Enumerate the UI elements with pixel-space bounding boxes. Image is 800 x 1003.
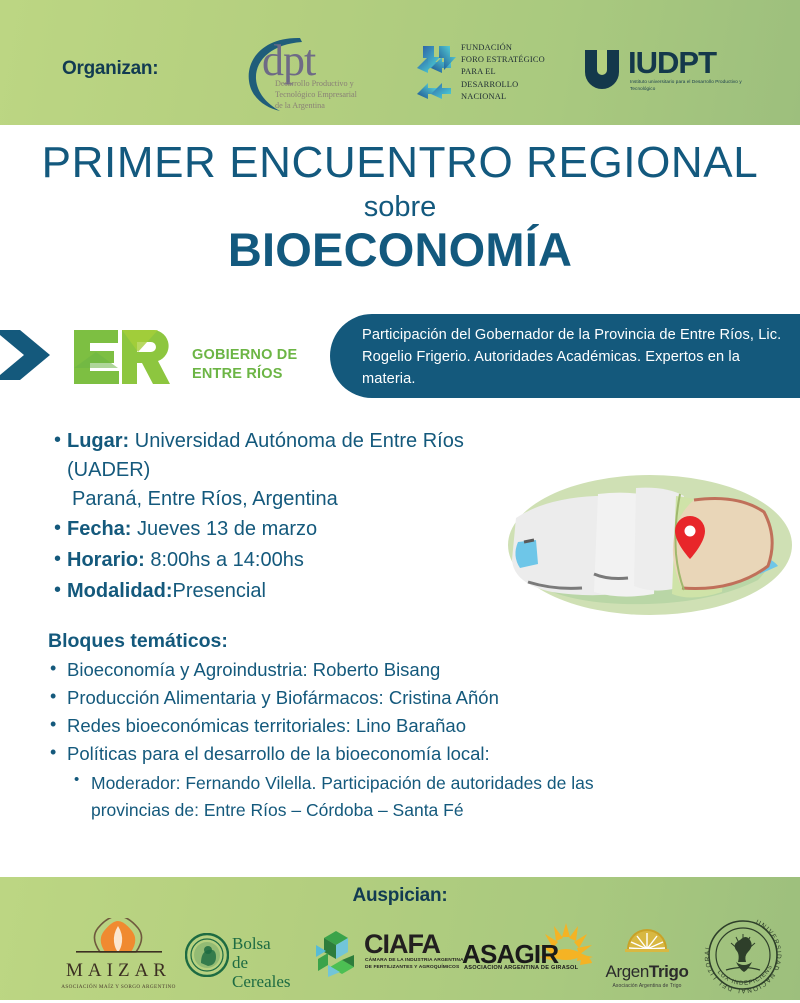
detail-fecha-label: Fecha: [67,518,131,540]
argentrigo-name: ArgenTrigo [592,962,702,982]
bolsa-name: Bolsa de Cereales [232,934,310,991]
detail-fecha-value: Jueves 13 de marzo [137,518,317,540]
maizar-name: MAIZAR [56,960,181,982]
thematic-blocks: Bloques temáticos: Bioeconomía y Agroind… [48,630,668,823]
sponsors-row: MAIZAR ASOCIACIÓN MAÍZ Y SORGO ARGENTINO… [0,915,800,995]
block-item-4-text: Políticas para el desarrollo de la bioec… [67,743,490,764]
argentrigo-name-part1: Argen [606,962,649,981]
logo-argentrigo: ArgenTrigo Asociación Argentina de Trigo [592,927,702,989]
detail-modalidad: Modalidad:Presencial [54,577,524,606]
iudpt-acronym: IUDPT [628,45,716,81]
fundacion-line-4: DESARROLLO [461,79,561,91]
arrows-mark-icon [415,44,459,102]
block-item-2: Producción Alimentaria y Biofármacos: Cr… [48,684,668,712]
detail-horario: Horario: 8:00hs a 14:00hs [54,546,524,575]
block-item-4: Políticas para el desarrollo de la bioec… [48,740,668,823]
argentrigo-wheat-icon [625,927,669,961]
ciafa-subtitle: CÁMARA DE LA INDUSTRIA ARGENTINA DE FERT… [365,957,465,971]
block-item-1: Bioeconomía y Agroindustria: Roberto Bis… [48,656,668,684]
fundacion-line-2: FORO ESTRATÉGICO [461,54,561,66]
detail-horario-label: Horario: [67,549,145,571]
detail-modalidad-value: Presencial [173,580,266,602]
er-gobierno-text: GOBIERNO DE ENTRE RÍOS [192,346,297,383]
event-details: Lugar: Universidad Autónoma de Entre Río… [54,427,524,608]
logo-bolsa-de-cereales: Bolsa de Cereales [185,933,310,982]
fundacion-line-5: NACIONAL [461,91,561,103]
block-item-4-sub-1: Moderador: Fernando Vilella. Participaci… [67,770,668,823]
auspician-label: Auspician: [0,885,800,907]
logo-universidad-nacional-del-litoral: UNIVERSIDAD NACIONAL DEL LITORAL LUX IND… [700,912,786,998]
dpt-subtitle: Desarrollo Productivo y Tecnológico Empr… [275,79,365,111]
argentrigo-subtitle: Asociación Argentina de Trigo [592,983,702,989]
detail-modalidad-label: Modalidad: [67,580,173,602]
detail-horario-value: 8:00hs a 14:00hs [150,549,303,571]
argentina-map [508,470,793,620]
logo-maizar: MAIZAR ASOCIACIÓN MAÍZ Y SORGO ARGENTINO [56,918,181,990]
detail-lugar-value-cont: Paraná, Entre Ríos, Argentina [67,485,524,514]
logo-fundacion-foro-estrategico: FUNDACIÓN FORO ESTRATÉGICO PARA EL DESAR… [415,42,560,104]
chevron-right-icon [0,324,64,386]
speech-text: Participación del Gobernador de la Provi… [362,325,786,391]
logo-ciafa: CIAFA CÁMARA DE LA INDUSTRIA ARGENTINA D… [312,929,462,982]
poster-title: PRIMER ENCUENTRO REGIONAL sobre BIOECONO… [0,140,800,277]
fundacion-name: FUNDACIÓN FORO ESTRATÉGICO PARA EL DESAR… [461,42,561,103]
blocks-heading: Bloques temáticos: [48,630,668,653]
organizan-label: Organizan: [62,58,158,80]
ciafa-mark-icon [312,929,360,977]
detail-lugar-label: Lugar: [67,430,129,452]
u-monogram-icon [582,48,622,92]
argentrigo-name-part2: Trigo [649,962,689,981]
detail-lugar: Lugar: Universidad Autónoma de Entre Río… [54,427,524,513]
maizar-subtitle: ASOCIACIÓN MAÍZ Y SORGO ARGENTINO [56,984,181,990]
fundacion-line-3: PARA EL [461,66,561,78]
bolsa-name-line-1: Bolsa [232,934,310,953]
er-gov-line-1: GOBIERNO DE [192,346,297,365]
maizar-mark-icon [56,918,181,954]
block-item-3: Redes bioeconómicas territoriales: Lino … [48,712,668,740]
speech-callout: Participación del Gobernador de la Provi… [330,314,800,398]
title-line-2: sobre [0,191,800,224]
title-line-3: BIOECONOMÍA [0,223,800,277]
asagir-subtitle: ASOCIACION ARGENTINA DE GIRASOL [464,965,578,971]
map-illustration-icon [508,470,793,620]
unl-seal-icon: UNIVERSIDAD NACIONAL DEL LITORAL LUX IND… [700,912,786,998]
er-gov-line-2: ENTRE RÍOS [192,365,297,384]
title-line-1: PRIMER ENCUENTRO REGIONAL [0,140,800,187]
detail-fecha: Fecha: Jueves 13 de marzo [54,515,524,544]
iudpt-subtitle: Instituto universitario para el Desarrol… [630,79,745,93]
fundacion-line-1: FUNDACIÓN [461,42,561,54]
dpt-acronym: dpt [262,39,315,83]
bolsa-seal-icon [185,933,229,977]
er-gobierno-logo [72,328,184,386]
logo-dpt: dpt Desarrollo Productivo y Tecnológico … [240,33,358,115]
logo-iudpt: IUDPT Instituto universitario para el De… [582,47,747,99]
bolsa-name-line-2: de Cereales [232,953,310,991]
ciafa-name: CIAFA [364,929,440,960]
organizers-section: Organizan: dpt Desarrollo Productivo y T… [0,0,800,125]
er-banner-row: GOBIERNO DE ENTRE RÍOS Participación del… [0,310,800,402]
